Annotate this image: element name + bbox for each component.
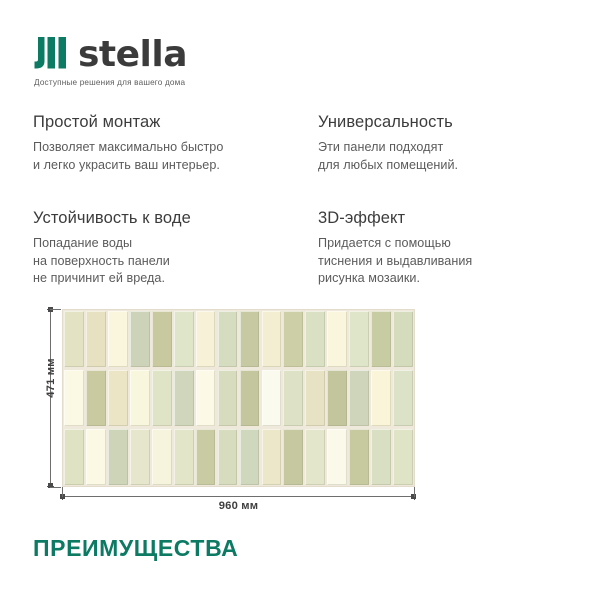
feature-ustoychivost-k-vode: Устойчивость к воде Попадание воды на по… — [33, 208, 298, 288]
mosaic-tile — [218, 311, 238, 367]
feature-universalnost: Универсальность Эти панели подходят для … — [318, 112, 583, 174]
mosaic-tile — [283, 311, 303, 367]
feature-body: Попадание воды на поверхность панели не … — [33, 235, 298, 288]
page-title: ПРЕИМУЩЕСТВА — [33, 535, 238, 562]
mosaic-tile — [64, 370, 84, 426]
mosaic-tile — [152, 311, 172, 367]
mosaic-tile — [64, 311, 84, 367]
mosaic-tile-row — [63, 310, 414, 369]
mosaic-tile — [371, 429, 391, 485]
mosaic-tile — [218, 429, 238, 485]
mosaic-tile — [262, 311, 282, 367]
mosaic-tile — [262, 429, 282, 485]
feature-body-line: Эти панели подходят — [318, 139, 583, 157]
feature-body-line: и легко украсить ваш интерьер. — [33, 157, 298, 175]
feature-body: Эти панели подходят для любых помещений. — [318, 139, 583, 174]
mosaic-tile — [130, 429, 150, 485]
mosaic-tile-row — [63, 369, 414, 428]
mosaic-panel-image — [62, 309, 415, 487]
promo-page: stella Доступные решения для вашего дома… — [0, 0, 600, 600]
feature-body: Позволяет максимально быстро и легко укр… — [33, 139, 298, 174]
mosaic-tile — [327, 370, 347, 426]
mosaic-tile — [305, 370, 325, 426]
height-dimension-label: 471 мм — [45, 348, 57, 408]
feature-body-line: Позволяет максимально быстро — [33, 139, 298, 157]
feature-prostoy-montazh: Простой монтаж Позволяет максимально быс… — [33, 112, 298, 174]
mosaic-tile — [305, 429, 325, 485]
mosaic-tile — [196, 370, 216, 426]
height-extension-top — [50, 309, 61, 310]
panel-dimension-diagram: 471 мм 960 мм — [0, 300, 600, 515]
feature-title: Простой монтаж — [33, 112, 298, 132]
mosaic-tile — [283, 370, 303, 426]
width-extension-left — [62, 487, 63, 497]
mosaic-tile — [86, 429, 106, 485]
mosaic-tile — [218, 370, 238, 426]
mosaic-tile — [196, 311, 216, 367]
mosaic-tile — [393, 429, 413, 485]
features-left-column: Простой монтаж Позволяет максимально быс… — [33, 112, 298, 288]
feature-body-line: тиснения и выдавливания — [318, 253, 583, 271]
brand-logo-block: stella Доступные решения для вашего дома — [33, 33, 293, 87]
mosaic-tile-row — [63, 427, 414, 486]
mosaic-tile — [174, 311, 194, 367]
mosaic-tile — [130, 311, 150, 367]
width-dimension-line — [62, 496, 415, 497]
mosaic-tile — [130, 370, 150, 426]
mosaic-tile — [196, 429, 216, 485]
mosaic-tile — [349, 370, 369, 426]
width-dimension-label: 960 мм — [62, 500, 415, 512]
feature-title: Универсальность — [318, 112, 583, 132]
feature-3d-effekt: 3D-эффект Придается с помощью тиснения и… — [318, 208, 583, 288]
feature-body-line: для любых помещений. — [318, 157, 583, 175]
mosaic-tile — [108, 370, 128, 426]
mosaic-tile — [64, 429, 84, 485]
feature-title: 3D-эффект — [318, 208, 583, 228]
mosaic-tile — [152, 429, 172, 485]
mosaic-tile — [349, 311, 369, 367]
mosaic-tile — [262, 370, 282, 426]
mosaic-tile — [371, 370, 391, 426]
mosaic-tile — [327, 429, 347, 485]
feature-title: Устойчивость к воде — [33, 208, 298, 228]
feature-body-line: Попадание воды — [33, 235, 298, 253]
height-extension-bottom — [50, 487, 61, 488]
width-extension-right — [414, 487, 415, 497]
feature-body-line: Придается с помощью — [318, 235, 583, 253]
mosaic-tile — [108, 429, 128, 485]
mosaic-tile — [240, 370, 260, 426]
feature-body: Придается с помощью тиснения и выдавлива… — [318, 235, 583, 288]
mosaic-tile — [108, 311, 128, 367]
feature-body-line: на поверхность панели — [33, 253, 298, 271]
feature-body-line: не причинит ей вреда. — [33, 270, 298, 288]
mosaic-tile — [240, 311, 260, 367]
mosaic-tile — [240, 429, 260, 485]
feature-body-line: рисунка мозаики. — [318, 270, 583, 288]
mosaic-tile — [305, 311, 325, 367]
mosaic-tile — [349, 429, 369, 485]
mosaic-tile — [174, 370, 194, 426]
brand-name: stella — [78, 39, 187, 71]
logo-row: stella — [33, 33, 293, 71]
mosaic-tile — [174, 429, 194, 485]
mosaic-tile — [86, 370, 106, 426]
mosaic-tile — [152, 370, 172, 426]
features-right-column: Универсальность Эти панели подходят для … — [318, 112, 583, 288]
mosaic-tile — [86, 311, 106, 367]
stella-logo-mark-icon — [33, 37, 69, 69]
mosaic-tile — [393, 311, 413, 367]
mosaic-tile — [393, 370, 413, 426]
brand-tagline: Доступные решения для вашего дома — [34, 78, 293, 87]
mosaic-tile — [327, 311, 347, 367]
mosaic-tile — [371, 311, 391, 367]
mosaic-tile — [283, 429, 303, 485]
